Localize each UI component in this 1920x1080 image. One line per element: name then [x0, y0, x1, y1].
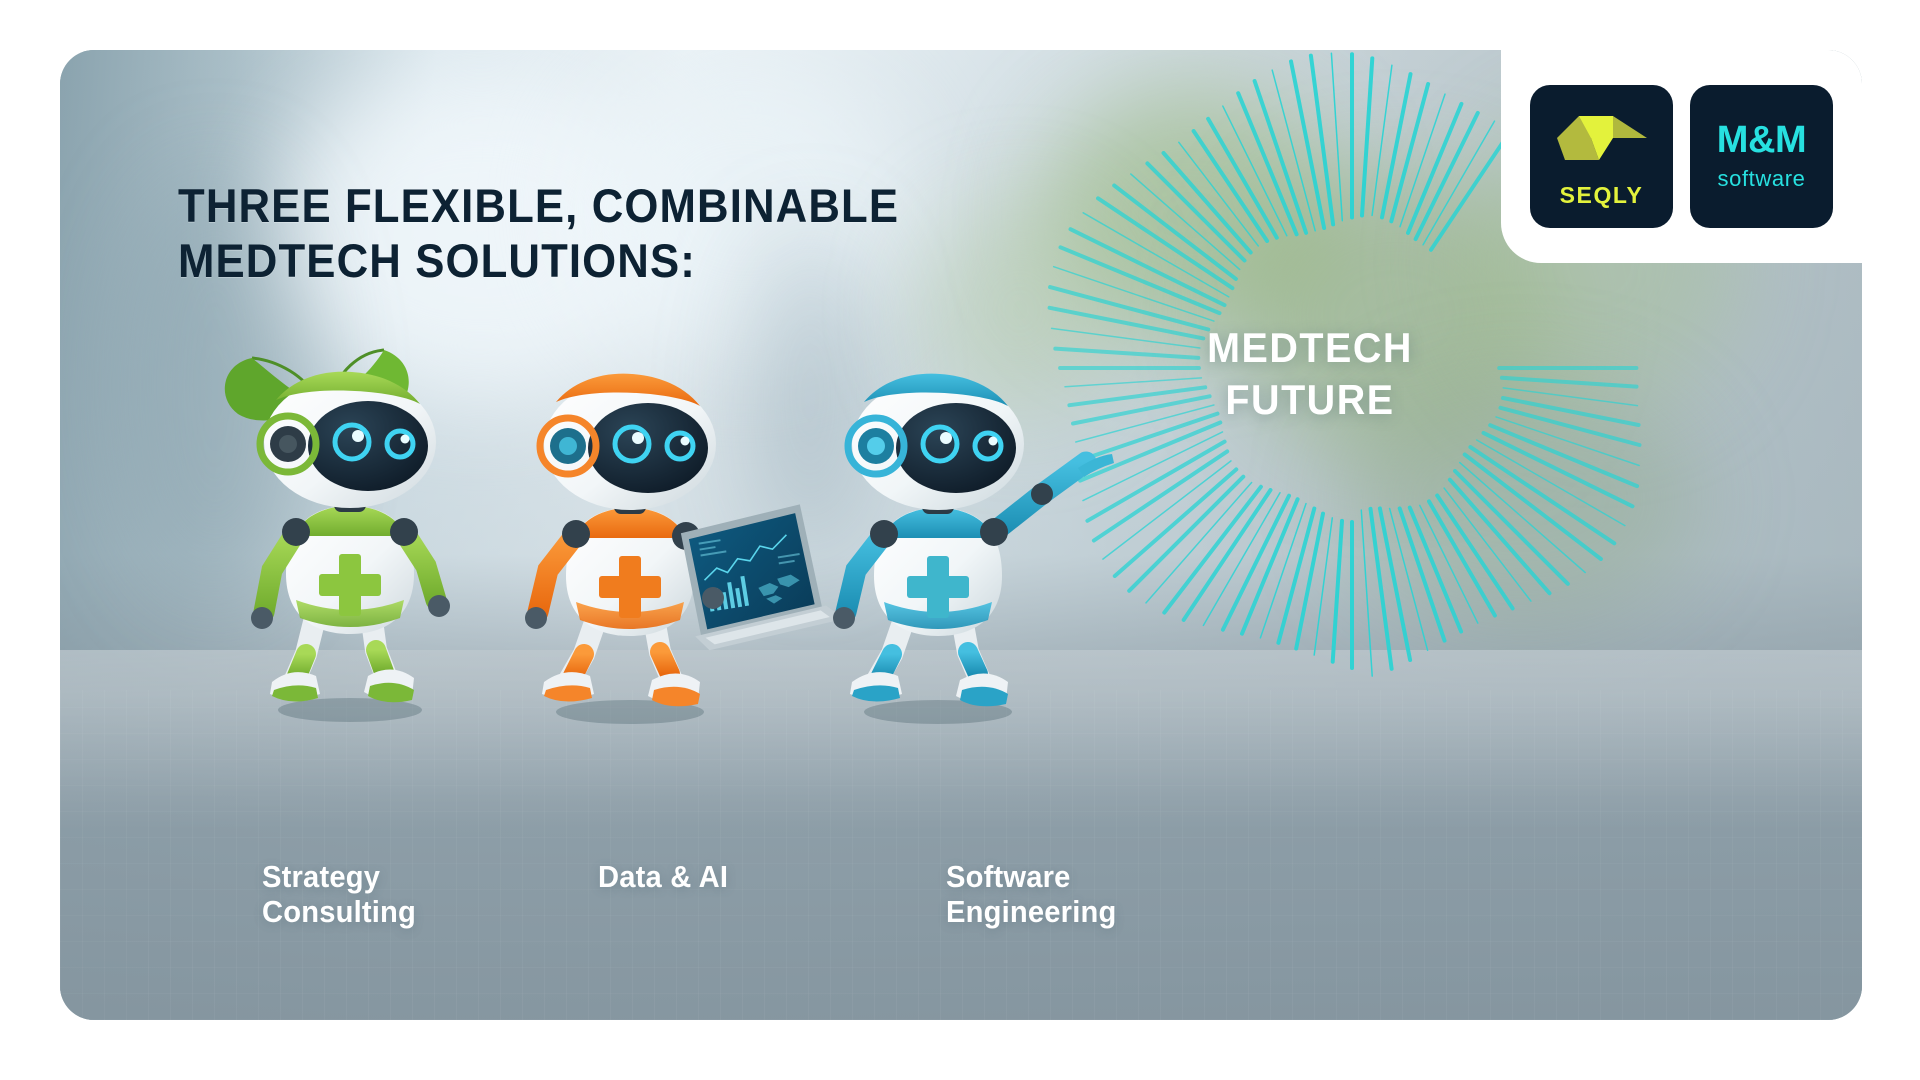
solution-label-software-engineering: Software Engineering [946, 860, 1116, 929]
seqly-wordmark: SEQLY [1560, 182, 1644, 209]
page-title: THREE FLEXIBLE, COMBINABLE MEDTECH SOLUT… [178, 178, 899, 289]
medtech-future-label: MEDTECH FUTURE [1169, 322, 1451, 426]
robot-data-ai [480, 340, 810, 730]
logo-tile-mm-software[interactable]: M&M software [1690, 85, 1833, 228]
solution-label-data-ai: Data & AI [598, 860, 728, 895]
seqly-ribbon-icon [1555, 108, 1649, 170]
robot-software-engineering [790, 340, 1110, 730]
solution-label-strategy-consulting: Strategy Consulting [262, 860, 416, 929]
logo-panel: SEQLY M&M software [1501, 50, 1862, 263]
hero-card: THREE FLEXIBLE, COMBINABLE MEDTECH SOLUT… [60, 50, 1862, 1020]
robot-strategy-consulting [200, 338, 500, 728]
floor-grid [60, 690, 1862, 1020]
logo-tile-seqly[interactable]: SEQLY [1530, 85, 1673, 228]
mm-software-subtitle: software [1718, 166, 1806, 192]
mm-wordmark: M&M [1717, 121, 1807, 159]
